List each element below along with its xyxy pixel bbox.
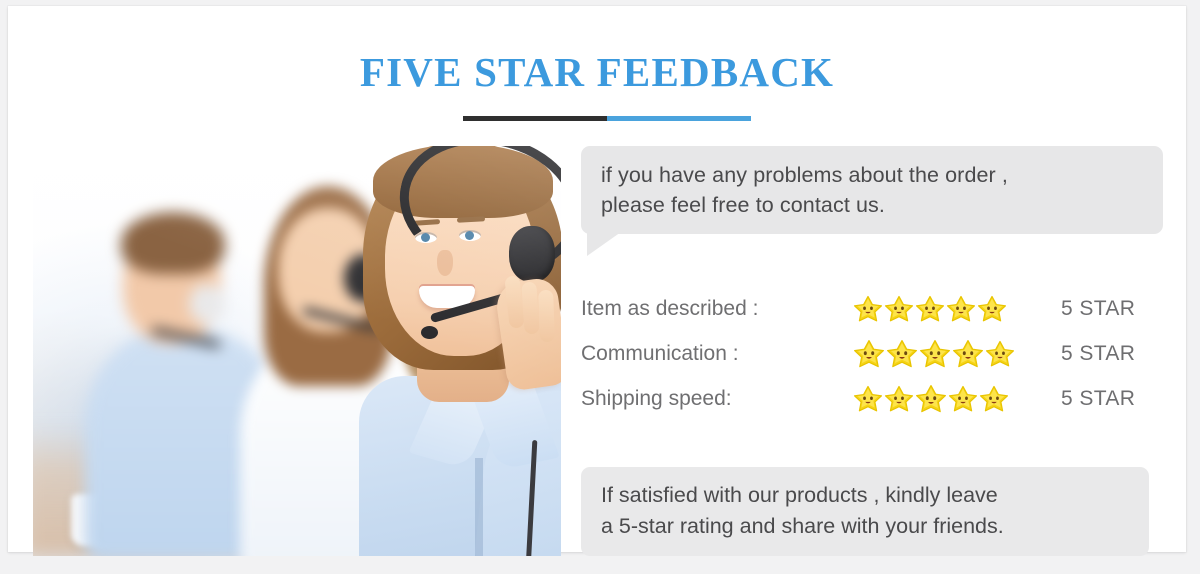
contact-message-line-1: if you have any problems about the order… <box>601 160 1147 190</box>
star-icon <box>915 383 947 415</box>
page-title: FIVE STAR FEEDBACK <box>8 48 1186 96</box>
star-icon <box>952 338 984 370</box>
rating-row: Shipping speed: 5 STAR <box>581 376 1181 421</box>
star-rating <box>853 338 1039 370</box>
star-icon <box>919 338 951 370</box>
star-icon <box>979 384 1009 414</box>
agent-hair <box>121 212 225 274</box>
headset-earcup-icon <box>509 226 555 282</box>
review-request-line-2: a 5-star rating and share with your frie… <box>601 511 1135 542</box>
review-request-line-1: If satisfied with our products , kindly … <box>601 480 1135 511</box>
rating-value: 5 STAR <box>1039 387 1135 411</box>
underline-dark-segment <box>463 116 607 121</box>
agent-finger <box>538 290 555 342</box>
star-icon <box>915 294 945 324</box>
feedback-content: if you have any problems about the order… <box>581 146 1181 556</box>
star-icon <box>853 338 885 370</box>
rating-row: Communication : 5 STAR <box>581 331 1181 376</box>
star-icon <box>946 294 976 324</box>
bubble-tail <box>587 232 621 256</box>
star-icon <box>884 294 914 324</box>
ratings-list: Item as described : 5 STAR Communication… <box>581 286 1181 421</box>
rating-label: Communication : <box>581 342 853 366</box>
rating-row: Item as described : 5 STAR <box>581 286 1181 331</box>
rating-label: Shipping speed: <box>581 387 853 411</box>
star-rating <box>853 294 1039 324</box>
contact-message-line-2: please feel free to contact us. <box>601 190 1147 220</box>
review-request-box: If satisfied with our products , kindly … <box>581 467 1149 556</box>
star-icon <box>985 339 1015 369</box>
underline-blue-segment <box>607 116 751 121</box>
feedback-banner: FIVE STAR FEEDBACK <box>0 0 1200 574</box>
star-rating <box>853 383 1039 415</box>
feedback-card: FIVE STAR FEEDBACK <box>8 6 1186 552</box>
star-icon <box>977 294 1007 324</box>
call-center-photo <box>33 146 561 556</box>
foreground-agent <box>333 146 561 556</box>
star-icon <box>948 384 978 414</box>
rating-value: 5 STAR <box>1039 297 1135 321</box>
star-icon <box>853 294 883 324</box>
headset-mic-tip-icon <box>421 326 438 339</box>
title-underline <box>463 116 751 121</box>
star-icon <box>853 384 883 414</box>
star-icon <box>884 384 914 414</box>
photo-inner <box>33 146 561 556</box>
rating-value: 5 STAR <box>1039 342 1135 366</box>
contact-message-bubble: if you have any problems about the order… <box>581 146 1163 234</box>
rating-label: Item as described : <box>581 297 853 321</box>
shirt-placket <box>475 458 483 556</box>
star-icon <box>886 338 918 370</box>
headset-icon <box>189 284 225 324</box>
